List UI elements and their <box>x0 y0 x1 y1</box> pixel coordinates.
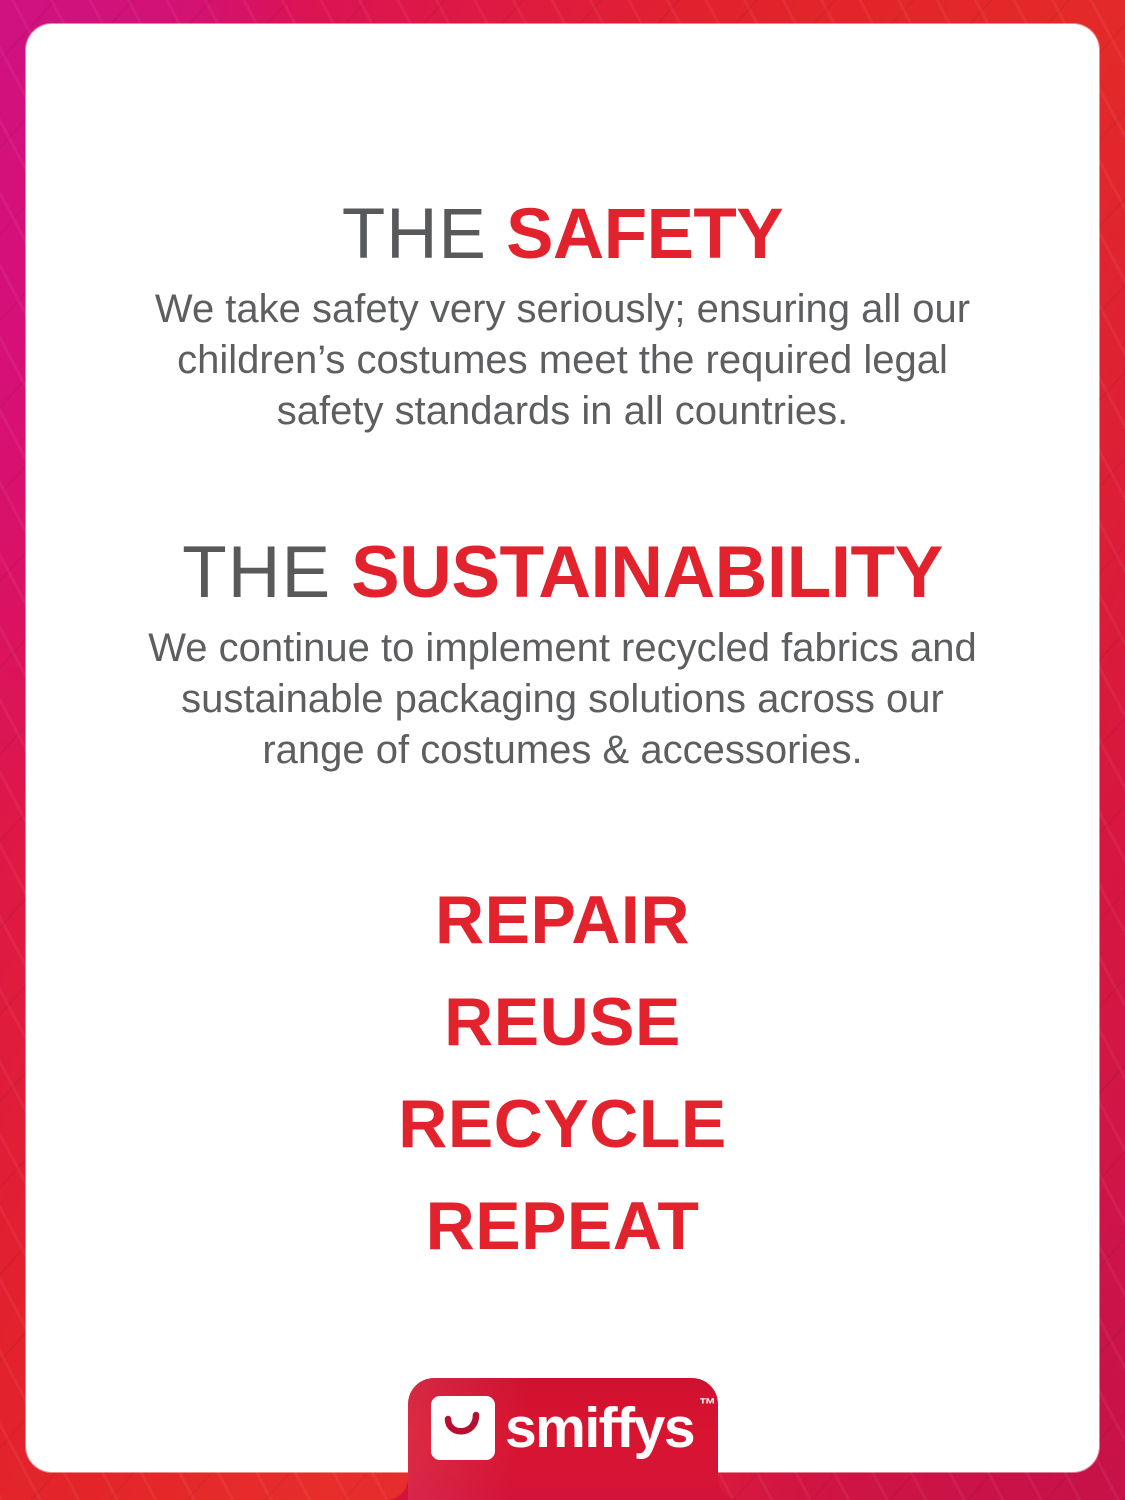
sustainability-heading-accent: SUSTAINABILITY <box>351 532 943 613</box>
safety-heading: THE SAFETY <box>86 199 1039 270</box>
section-safety: THE SAFETY We take safety very seriously… <box>86 199 1039 438</box>
safety-heading-prefix: THE <box>342 195 487 274</box>
sustainability-heading-prefix: THE <box>182 532 331 613</box>
safety-heading-accent: SAFETY <box>506 195 783 274</box>
brand-wordmark-text: smiffys <box>505 1396 694 1460</box>
trademark-symbol: ™ <box>699 1396 716 1413</box>
slogan-word-recycle: RECYCLE <box>86 1090 1039 1158</box>
sustainability-heading: THE SUSTAINABILITY <box>86 536 1039 609</box>
brand-wordmark: smiffys ™ <box>505 1400 694 1457</box>
slogan-word-repair: REPAIR <box>86 886 1039 954</box>
slogan-word-reuse: REUSE <box>86 988 1039 1056</box>
slogan-word-repeat: REPEAT <box>86 1192 1039 1260</box>
brand-logo: smiffys ™ <box>408 1396 718 1460</box>
card-content: THE SAFETY We take safety very seriously… <box>26 199 1099 1260</box>
brand-logo-tab: smiffys ™ <box>408 1378 718 1500</box>
safety-body-text: We take safety very seriously; ensuring … <box>123 284 1003 438</box>
smile-icon <box>431 1396 495 1460</box>
slogan-list: REPAIR REUSE RECYCLE REPEAT <box>86 886 1039 1260</box>
section-sustainability: THE SUSTAINABILITY We continue to implem… <box>86 536 1039 777</box>
sustainability-body-text: We continue to implement recycled fabric… <box>143 623 983 777</box>
poster-canvas: THE SAFETY We take safety very seriously… <box>0 0 1125 1500</box>
content-card: THE SAFETY We take safety very seriously… <box>26 24 1099 1472</box>
